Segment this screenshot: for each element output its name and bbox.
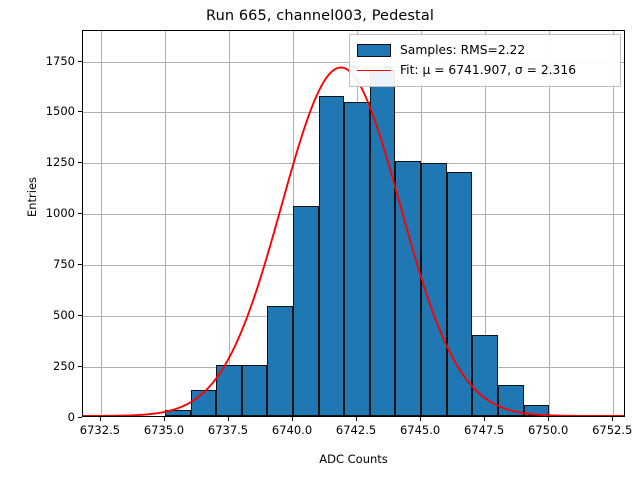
legend-item-label: Fit: μ = 6741.907, σ = 2.316 xyxy=(400,63,576,77)
y-tick-mark xyxy=(78,61,82,62)
x-tick-label: 6735.0 xyxy=(144,423,184,437)
x-tick-mark xyxy=(228,417,229,421)
y-tick-label: 1250 xyxy=(34,155,75,169)
x-tick-label: 6752.5 xyxy=(592,423,632,437)
y-tick-mark xyxy=(78,264,82,265)
x-tick-label: 6740.0 xyxy=(272,423,312,437)
plot-area xyxy=(82,30,625,417)
y-tick-mark xyxy=(78,162,82,163)
x-tick-label: 6750.0 xyxy=(528,423,568,437)
x-tick-mark xyxy=(356,417,357,421)
x-tick-mark xyxy=(484,417,485,421)
x-tick-mark xyxy=(164,417,165,421)
x-tick-label: 6745.0 xyxy=(400,423,440,437)
gaussian-fit-curve xyxy=(83,31,624,416)
x-axis-label: ADC Counts xyxy=(82,452,625,466)
x-tick-label: 6747.5 xyxy=(464,423,504,437)
figure: Run 665, channel003, Pedestal Entries AD… xyxy=(0,0,640,480)
y-tick-label: 0 xyxy=(34,410,75,424)
y-tick-label: 250 xyxy=(34,359,75,373)
y-tick-label: 1500 xyxy=(34,104,75,118)
x-tick-mark xyxy=(420,417,421,421)
page-title: Run 665, channel003, Pedestal xyxy=(0,8,640,24)
legend-item-label: Samples: RMS=2.22 xyxy=(400,43,525,57)
x-tick-label: 6742.5 xyxy=(336,423,376,437)
y-tick-label: 500 xyxy=(34,308,75,322)
y-tick-mark xyxy=(78,213,82,214)
x-tick-mark xyxy=(612,417,613,421)
legend-patch-icon xyxy=(357,44,391,57)
y-tick-mark xyxy=(78,111,82,112)
y-tick-mark xyxy=(78,315,82,316)
legend-item-samples: Samples: RMS=2.22 xyxy=(357,40,613,60)
legend-line-icon xyxy=(357,64,391,77)
x-tick-mark xyxy=(100,417,101,421)
x-tick-mark xyxy=(548,417,549,421)
legend-item-fit: Fit: μ = 6741.907, σ = 2.316 xyxy=(357,60,613,80)
y-tick-label: 750 xyxy=(34,257,75,271)
x-tick-label: 6732.5 xyxy=(80,423,120,437)
x-tick-mark xyxy=(292,417,293,421)
y-tick-label: 1750 xyxy=(34,54,75,68)
y-tick-mark xyxy=(78,417,82,418)
legend: Samples: RMS=2.22 Fit: μ = 6741.907, σ =… xyxy=(349,34,621,87)
x-tick-label: 6737.5 xyxy=(208,423,248,437)
y-tick-label: 1000 xyxy=(34,206,75,220)
y-tick-mark xyxy=(78,366,82,367)
